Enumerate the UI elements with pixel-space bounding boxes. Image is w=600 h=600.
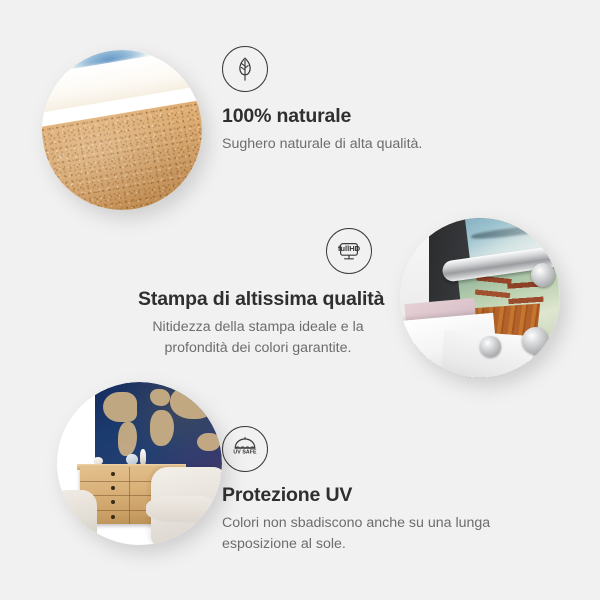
room-photo-map-europe: [150, 389, 169, 406]
feature-description-uv-line1: Colori non sbadiscono anche su una lunga: [222, 513, 490, 533]
feature-icon-row-print: fullHD: [138, 228, 378, 274]
living-room-world-map-photo: [57, 382, 222, 545]
printer-photo-inner: [400, 218, 560, 378]
leaf-icon: [222, 46, 268, 92]
feature-description-print-line1: Nitidezza della stampa ideale e la: [138, 317, 378, 337]
room-photo-drawer-knob: [111, 515, 115, 519]
feature-title-uv: Protezione UV: [222, 484, 490, 507]
room-photo-world-map-canvas: [95, 382, 222, 477]
room-photo-map-africa: [150, 410, 174, 446]
room-photo-map-north-america: [103, 392, 136, 422]
feature-block-natural: 100% naturale Sughero naturale di alta q…: [222, 46, 422, 155]
feature-block-uv: UV SAFE Protezione UV Colori non sbadisc…: [222, 426, 490, 554]
room-photo-drawer-divider: [129, 467, 130, 524]
room-photo-drawer-knob: [111, 472, 115, 476]
fullhd-monitor-icon: fullHD: [326, 228, 372, 274]
feature-description-natural: Sughero naturale di alta qualità.: [222, 134, 422, 154]
room-photo-map-south-america: [118, 422, 136, 456]
feature-title-print: Stampa di altissima qualità: [138, 288, 378, 311]
feature-description-print-line2: profondità dei colori garantite.: [138, 338, 378, 358]
room-photo-map-asia: [170, 386, 214, 419]
printer-photo-knob-top: [531, 263, 555, 287]
feature-title-natural: 100% naturale: [222, 105, 422, 128]
room-photo-inner: [57, 382, 222, 545]
printer-photo-knob-right: [522, 327, 549, 354]
fullhd-icon-label: fullHD: [338, 244, 361, 253]
room-photo-drawer-knob: [111, 486, 115, 490]
room-photo-drawer-knob: [111, 500, 115, 504]
room-photo-second-armchair: [57, 490, 97, 542]
cork-board-macro-photo: [42, 50, 202, 210]
printer-photo-knob-center: [480, 336, 501, 357]
large-format-printer-photo: [400, 218, 560, 378]
infographic-canvas: 100% naturale Sughero naturale di alta q…: [0, 0, 600, 600]
feature-block-print: fullHD Stampa di altissima qualità Nitid…: [138, 228, 378, 358]
uv-safe-icon-label: UV SAFE: [233, 449, 257, 455]
cork-photo-inner: [42, 50, 202, 210]
room-photo-map-australia: [197, 433, 219, 451]
room-photo-armchair-arm: [146, 496, 212, 522]
uv-safe-umbrella-icon: UV SAFE: [222, 426, 268, 472]
feature-description-uv-line2: esposizione al sole.: [222, 534, 490, 554]
